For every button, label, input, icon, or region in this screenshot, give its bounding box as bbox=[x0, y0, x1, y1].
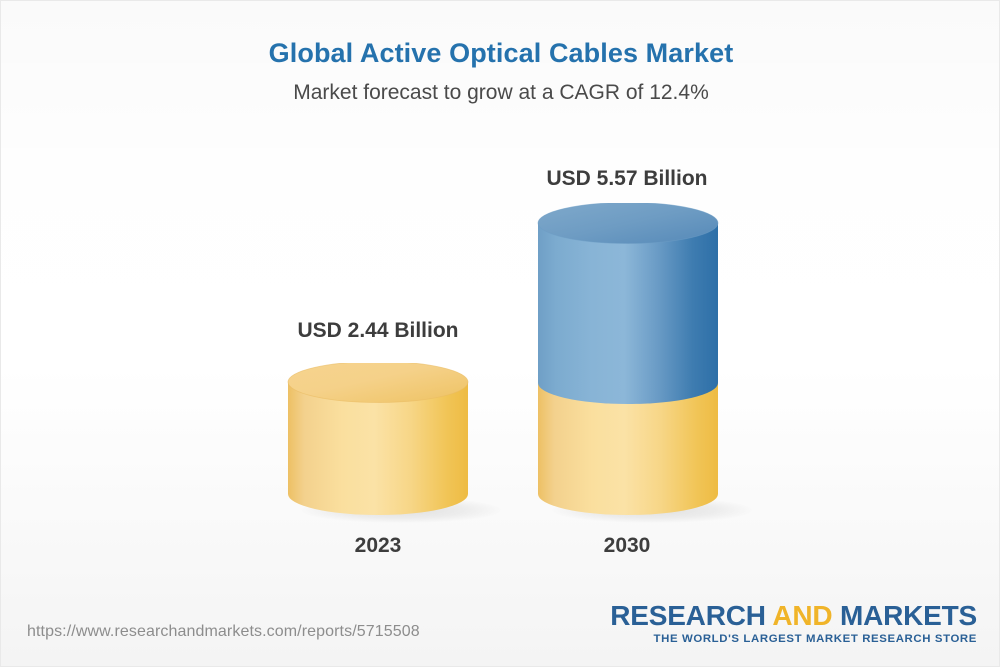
bar-cylinder-2030 bbox=[537, 203, 719, 517]
report-url[interactable]: https://www.researchandmarkets.com/repor… bbox=[27, 623, 420, 641]
bar-value-label-2023: USD 2.44 Billion bbox=[218, 319, 538, 343]
logo-word-and: AND bbox=[772, 600, 832, 631]
research-and-markets-logo[interactable]: RESEARCH AND MARKETS THE WORLD'S LARGEST… bbox=[610, 601, 977, 646]
bar-cylinder-2023 bbox=[287, 363, 469, 517]
bar-value-label-2030: USD 5.57 Billion bbox=[467, 167, 787, 191]
chart-plot-area: USD 2.44 Billion bbox=[1, 1, 1000, 667]
logo-word-research: RESEARCH bbox=[610, 600, 772, 631]
logo-word-markets: MARKETS bbox=[832, 600, 977, 631]
logo-tagline: THE WORLD'S LARGEST MARKET RESEARCH STOR… bbox=[610, 633, 977, 646]
bar-category-label-2030: 2030 bbox=[467, 534, 787, 558]
logo-wordmark: RESEARCH AND MARKETS bbox=[610, 601, 977, 630]
infographic-canvas: Global Active Optical Cables Market Mark… bbox=[0, 0, 1000, 667]
